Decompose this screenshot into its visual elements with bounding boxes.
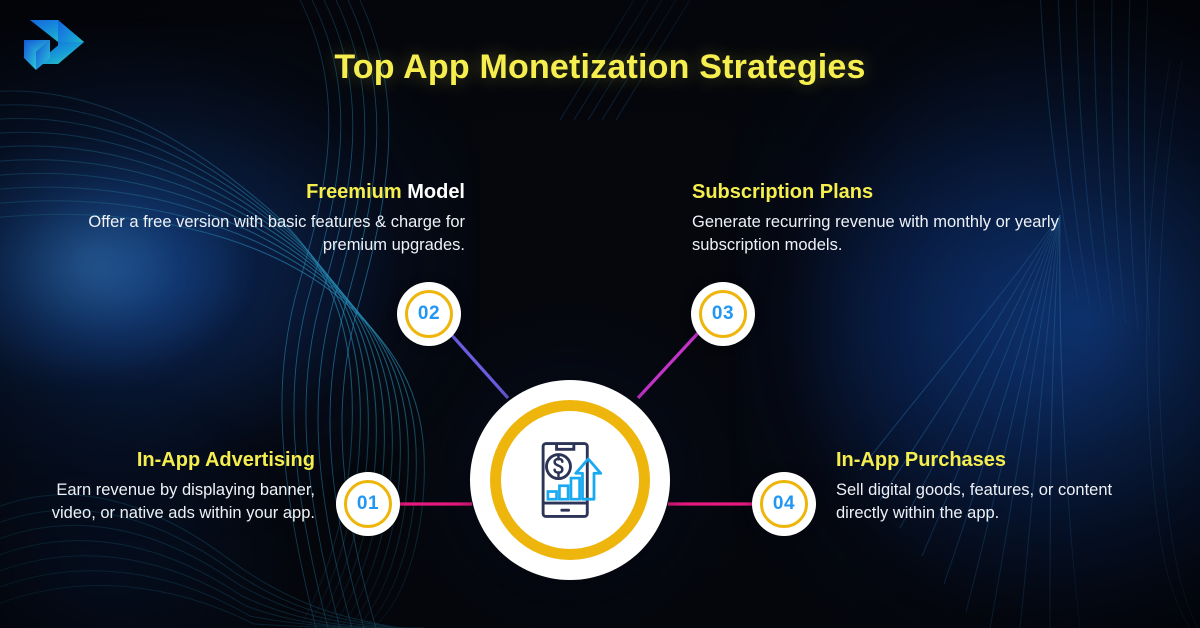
heading-highlight: Freemium xyxy=(306,181,407,203)
heading-highlight: Subscription Plans xyxy=(692,181,873,203)
strategy-heading-freemium: Freemium Model xyxy=(40,180,465,204)
strategy-description-subscription: Generate recurring revenue with monthly … xyxy=(692,211,1112,258)
strategy-description-advertising: Earn revenue by displaying banner, video… xyxy=(20,479,315,526)
mobile-revenue-growth-icon xyxy=(522,432,618,528)
connector-line-02 xyxy=(449,332,508,398)
strategy-block-purchases: In-App Purchases Sell digital goods, fea… xyxy=(836,448,1156,526)
step-badge-01[interactable]: 01 xyxy=(336,472,400,536)
badge-number: 04 xyxy=(773,493,795,515)
strategy-block-freemium: Freemium Model Offer a free version with… xyxy=(40,180,465,258)
strategy-heading-advertising: In-App Advertising xyxy=(20,448,315,472)
step-badge-04[interactable]: 04 xyxy=(752,472,816,536)
connector-line-03 xyxy=(638,332,699,398)
badge-number: 01 xyxy=(357,493,379,515)
heading-highlight: In-App Advertising xyxy=(137,449,315,471)
infographic-canvas: Top App Monetization Strategies xyxy=(0,0,1200,628)
strategy-description-freemium: Offer a free version with basic features… xyxy=(40,211,465,258)
badge-ring: 04 xyxy=(760,480,808,528)
strategy-block-advertising: In-App Advertising Earn revenue by displ… xyxy=(20,448,315,526)
strategy-block-subscription: Subscription Plans Generate recurring re… xyxy=(692,180,1112,258)
badge-number: 03 xyxy=(712,303,734,325)
strategy-heading-subscription: Subscription Plans xyxy=(692,180,1112,204)
badge-ring: 01 xyxy=(344,480,392,528)
hub-gold-ring xyxy=(490,400,650,560)
heading-rest: Model xyxy=(407,181,465,203)
strategy-heading-purchases: In-App Purchases xyxy=(836,448,1156,472)
badge-number: 02 xyxy=(418,303,440,325)
step-badge-03[interactable]: 03 xyxy=(691,282,755,346)
badge-ring: 02 xyxy=(405,290,453,338)
center-hub xyxy=(470,380,670,580)
step-badge-02[interactable]: 02 xyxy=(397,282,461,346)
heading-highlight: In-App Purchases xyxy=(836,449,1006,471)
strategy-description-purchases: Sell digital goods, features, or content… xyxy=(836,479,1156,526)
badge-ring: 03 xyxy=(699,290,747,338)
